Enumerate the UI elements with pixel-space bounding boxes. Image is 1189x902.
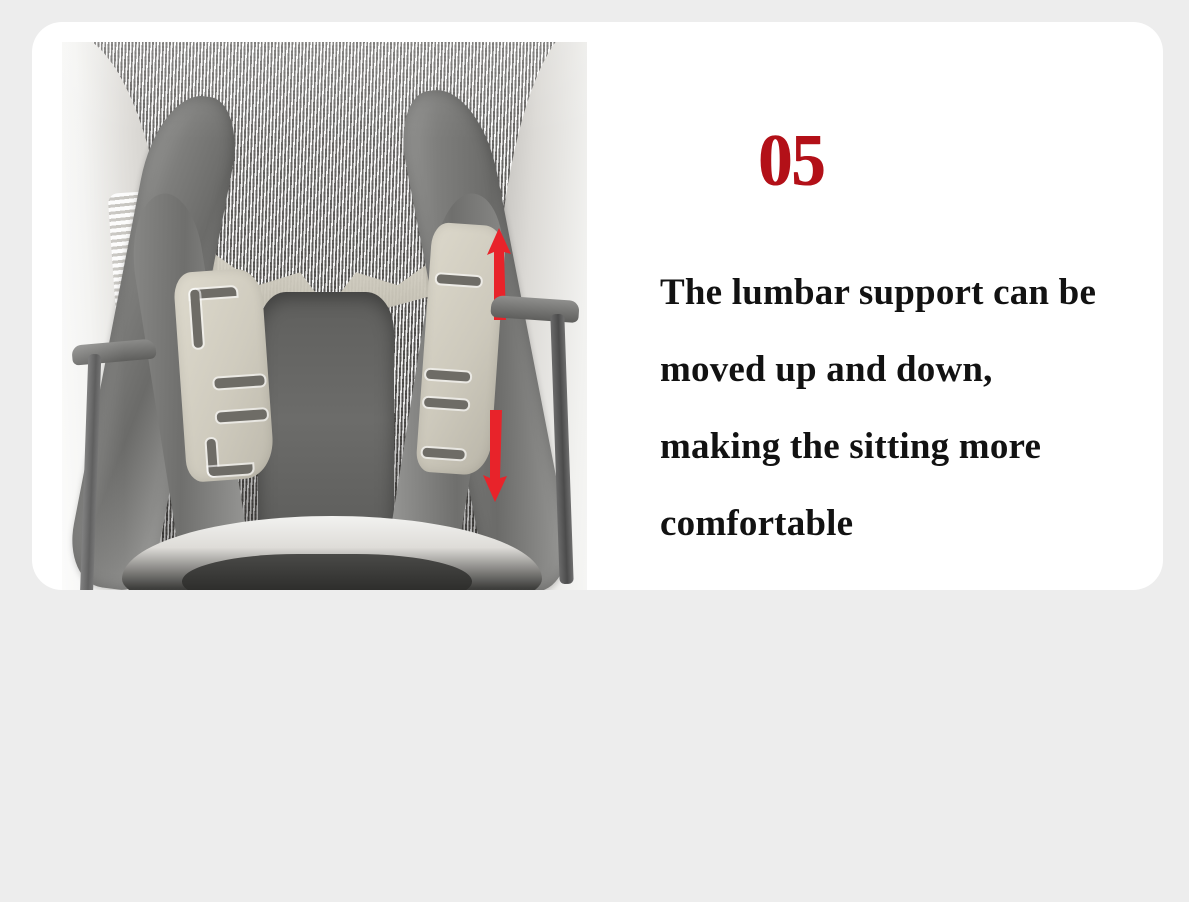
feature-description-line: comfortable (660, 485, 1163, 562)
page-root: 05 The lumbar support can be moved up an… (0, 0, 1189, 902)
feature-description: The lumbar support can be moved up and d… (660, 254, 1163, 562)
feature-number-badge: 05 (758, 124, 824, 198)
chair-seat-base (182, 554, 472, 590)
lumbar-slot (214, 375, 265, 388)
feature-content: 05 The lumbar support can be moved up an… (628, 42, 1163, 590)
lumbar-slot (437, 274, 482, 286)
feature-description-line: making the sitting more (660, 408, 1163, 485)
lumbar-slot (217, 409, 268, 422)
lumbar-slot (422, 448, 465, 460)
lumbar-slot (426, 370, 471, 382)
lumbar-pad-left (173, 267, 275, 483)
lumbar-slot (424, 398, 469, 410)
product-photo-inner (62, 42, 587, 590)
lumbar-slot (208, 464, 253, 476)
product-photo (62, 42, 587, 590)
feature-card: 05 The lumbar support can be moved up an… (32, 22, 1163, 590)
feature-description-line: The lumbar support can be (660, 254, 1163, 331)
feature-description-line: moved up and down, (660, 331, 1163, 408)
arrow-down-icon (482, 410, 508, 502)
